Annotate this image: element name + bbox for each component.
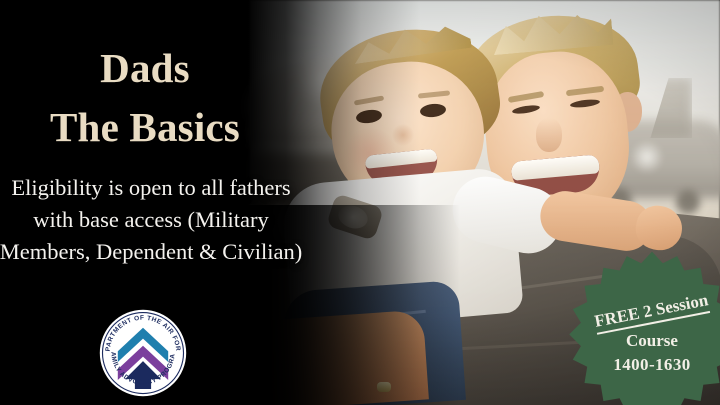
- eligibility-line-1: Eligibility is open to all fathers: [0, 172, 316, 204]
- eligibility-line-3: Members, Dependent & Civilian): [0, 236, 316, 268]
- family-advocacy-program-seal: DEPARTMENT OF THE AIR FORCE FAMILY ADVOC…: [98, 308, 188, 398]
- seal-graphic: DEPARTMENT OF THE AIR FORCE FAMILY ADVOC…: [98, 308, 188, 398]
- starburst-shape-icon: [562, 248, 720, 405]
- eligibility-line-2: with base access (Military: [0, 204, 316, 236]
- title-line-1: Dads: [0, 48, 290, 89]
- eligibility-description: Eligibility is open to all fathers with …: [0, 172, 316, 269]
- poster-canvas: Dads The Basics Eligibility is open to a…: [0, 0, 720, 405]
- page-title: Dads The Basics: [0, 48, 290, 148]
- free-course-badge: FREE 2 Session Course 1400-1630: [562, 248, 720, 405]
- title-line-2: The Basics: [0, 107, 290, 148]
- text-layer: Dads The Basics Eligibility is open to a…: [0, 0, 720, 405]
